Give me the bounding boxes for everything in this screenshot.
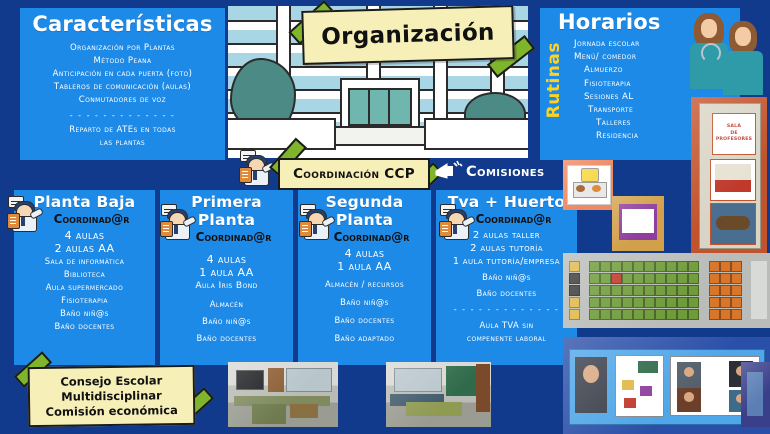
planta-baja-line: Biblioteca [14, 268, 155, 281]
coordinacion-ccp-label: Coordinación CCP [293, 166, 415, 182]
primera-planta-line: Almacén [160, 298, 293, 311]
two-nurses-illustration [690, 5, 766, 89]
tva-huerto-line: 2 aulas tutoría [436, 242, 577, 255]
consejo-escolar-note: Consejo Escolar Multidisciplinar Comisió… [28, 365, 196, 427]
planta-baja-line: Fisioterapia [14, 294, 155, 307]
tva-huerto-line: 1 aula tutoría/empresa [436, 255, 577, 268]
organizacion-banner: Organización [301, 5, 514, 65]
coordinacion-ccp-note: Coordinación CCP [278, 158, 430, 190]
tva-huerto-line: Aula TVA sin [436, 319, 577, 332]
primera-planta-line: Baño docentes [160, 332, 293, 345]
caracteristicas-separator: - - - - - - - - - - - - - [20, 112, 225, 120]
planta-baja-line: Baño niñ@s [14, 307, 155, 320]
segunda-planta-line: Baño docentes [298, 314, 431, 327]
entrance-doors [348, 88, 412, 126]
consejo-line: Multidisciplinar [61, 388, 162, 404]
classroom-photo-2 [386, 362, 491, 427]
segunda-planta-line: Baño adaptado [298, 332, 431, 345]
caracteristicas-line: Método Peana [20, 55, 225, 68]
primera-planta-coordinator: Coordinad@r [174, 230, 293, 244]
comisiones-label: Comisiones [466, 164, 545, 180]
coordinator-worker-icon [300, 204, 330, 238]
staff-photo-wall-photo [563, 337, 770, 434]
corridor-photo [741, 362, 770, 427]
caracteristicas-title: Características [20, 12, 225, 36]
coordinator-worker-icon [440, 204, 470, 238]
planta-baja-coordinator: Coordinad@r [28, 212, 155, 226]
caracteristicas-panel: Características Organización por Plantas… [20, 8, 225, 160]
coordinator-worker-icon [240, 150, 270, 184]
primera-planta-line: 4 aulas [160, 253, 293, 266]
communication-board-photo [563, 253, 770, 328]
entrance-steps [328, 126, 432, 146]
tva-huerto-line: Baño niñ@s [436, 271, 577, 284]
segunda-planta-line: 1 aula AA [298, 260, 431, 273]
planta-baja-line: Aula supermercado [14, 281, 155, 294]
consejo-line: Consejo Escolar [60, 373, 162, 389]
pictogram-card-fisioterapia-photo [612, 196, 664, 251]
caracteristicas-line: Anticipación en cada puerta (foto) [20, 68, 225, 81]
caracteristicas-line: las plantas [20, 137, 225, 150]
coordinator-worker-icon [161, 204, 191, 238]
planta-baja-line: 2 aulas AA [14, 242, 155, 255]
segunda-planta-line: Baño niñ@s [298, 296, 431, 309]
primera-planta-line: 1 aula AA [160, 266, 293, 279]
primera-planta-line: Baño niñ@s [160, 315, 293, 328]
classroom-photo-1 [228, 362, 338, 427]
primera-planta-line: Aula Iris Bond [160, 279, 293, 292]
tva-huerto-line: compenente laboral [436, 332, 577, 345]
caracteristicas-line: Conmutadores de voz [20, 94, 225, 107]
page-title: Organización [321, 20, 495, 51]
teachers-room-door-photo: SALA DE PROFESORES [691, 97, 767, 253]
tva-huerto-line: Baño docentes [436, 287, 577, 300]
megaphone-icon [434, 160, 464, 184]
caracteristicas-line: Organización por Plantas [20, 42, 225, 55]
tva-huerto-separator: - - - - - - - - - - - - - [436, 306, 577, 314]
segunda-planta-line: Almacén / recursos [298, 278, 431, 291]
segunda-planta-line: 4 aulas [298, 247, 431, 260]
pictogram-card-comida-photo [563, 160, 613, 210]
wall-left [228, 118, 336, 150]
caracteristicas-line: Reparto de ATEs en todas [20, 124, 225, 137]
poster-canvas: Organización Características Organizació… [0, 0, 770, 434]
caracteristicas-line: Tableros de comunicación (aulas) [20, 81, 225, 94]
wall-right [424, 118, 528, 150]
coordinator-worker-icon [8, 196, 38, 230]
planta-baja-line: Baño docentes [14, 320, 155, 333]
rutinas-label: Rutinas [544, 42, 564, 118]
consejo-line: Comisión económica [45, 403, 177, 420]
planta-baja-line: Sala de informática [14, 255, 155, 268]
